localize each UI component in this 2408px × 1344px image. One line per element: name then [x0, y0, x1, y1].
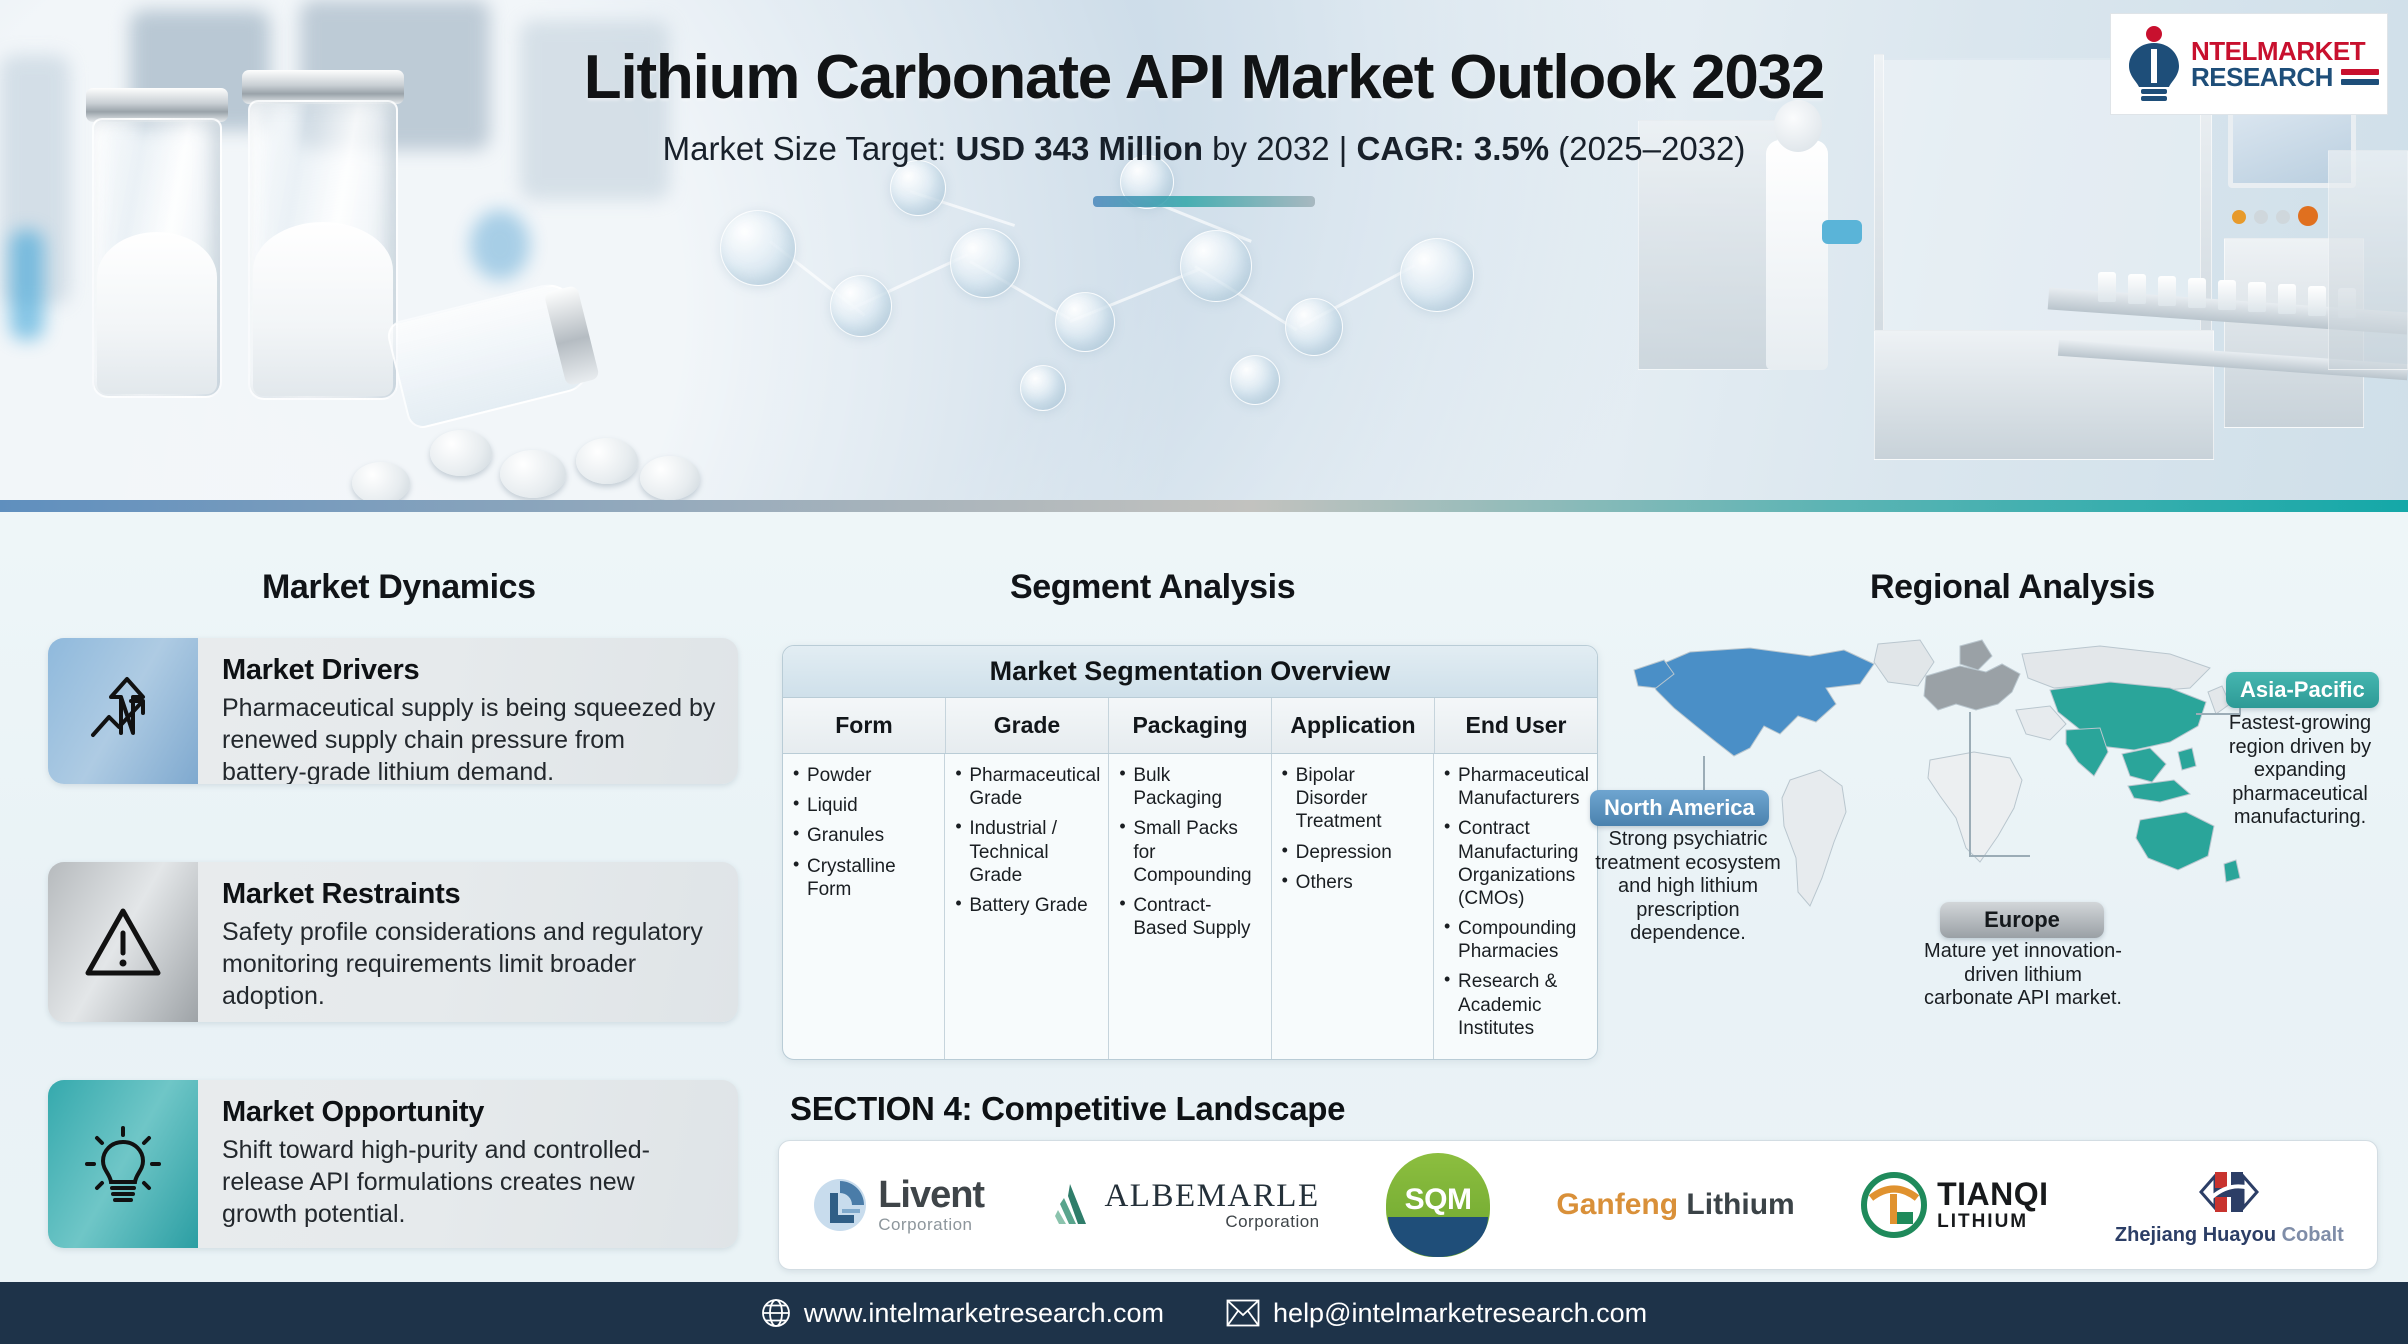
column-header-form: Form: [783, 698, 946, 753]
column-header-packaging: Packaging: [1109, 698, 1272, 753]
subtitle-years: (2025–2032): [1549, 130, 1745, 167]
table-body-row: Powder Liquid Granules Crystalline Form …: [783, 754, 1597, 1060]
card-heading: Market Restraints: [222, 878, 716, 911]
list-item: Pharmaceutical Manufacturers: [1444, 764, 1589, 810]
map-region-india: [2066, 728, 2108, 776]
competitor-name: Zhejiang Huayou Cobalt: [2115, 1224, 2344, 1247]
market-opportunity-card[interactable]: Market Opportunity Shift toward high-pur…: [48, 1080, 738, 1248]
map-region-indonesia: [2128, 780, 2190, 802]
hero-divider-bar: [0, 500, 2408, 512]
competitive-landscape-heading: SECTION 4: Competitive Landscape: [790, 1090, 1345, 1128]
card-heading: Market Drivers: [222, 654, 716, 687]
column-header-end-user: End User: [1435, 698, 1597, 753]
map-region-southeast-asia: [2122, 748, 2166, 782]
list-item: Granules: [793, 824, 936, 847]
logo-bars-icon: [2341, 69, 2379, 85]
map-region-africa: [1928, 752, 2022, 862]
card-heading: Market Opportunity: [222, 1096, 716, 1129]
competitor-albemarle[interactable]: ALBEMARLE Corporation: [1050, 1179, 1319, 1231]
hero-banner: Lithium Carbonate API Market Outlook 203…: [0, 0, 2408, 512]
card-body-text: Safety profile considerations and regula…: [222, 916, 716, 1012]
section-heading-market-dynamics: Market Dynamics: [262, 568, 536, 607]
footer-website[interactable]: www.intelmarketresearch.com: [761, 1298, 1164, 1329]
region-badge-asia-pacific[interactable]: Asia-Pacific: [2226, 672, 2379, 708]
subtitle-mid: by 2032 |: [1203, 130, 1357, 167]
section-number-label: SECTION 4:: [790, 1090, 981, 1127]
list-item: Bipolar Disorder Treatment: [1282, 764, 1425, 834]
regional-map: North America Strong psychiatric treatme…: [1630, 630, 2390, 1070]
competitor-sqm[interactable]: SQM: [1386, 1153, 1490, 1257]
list-item: Research & Academic Institutes: [1444, 970, 1589, 1040]
competitor-suffix: Corporation: [1104, 1213, 1319, 1231]
list-item: Compounding Pharmacies: [1444, 917, 1589, 963]
section-heading-regional-analysis: Regional Analysis: [1870, 568, 2155, 607]
page-title: Lithium Carbonate API Market Outlook 203…: [584, 42, 1824, 113]
map-region-philippines: [2178, 748, 2196, 770]
market-size-value: USD 343 Million: [955, 130, 1203, 167]
map-region-australia: [2136, 812, 2214, 870]
list-item: Pharmaceutical Grade: [955, 764, 1100, 810]
logo-wordmark: NTELMARKET RESEARCH: [2191, 38, 2379, 90]
livent-logo-icon: [812, 1177, 868, 1233]
list-item: Contract-Based Supply: [1119, 894, 1262, 940]
tianqi-logo-icon: [1861, 1172, 1927, 1238]
lightbulb-icon: [48, 1080, 198, 1248]
subtitle-prefix: Market Size Target:: [663, 130, 956, 167]
warning-triangle-icon: [48, 862, 198, 1022]
list-item: Industrial / Technical Grade: [955, 817, 1100, 887]
region-text-europe: Mature yet innovation-driven lithium car…: [1918, 940, 2128, 1011]
table-cell-packaging: Bulk Packaging Small Packs for Compoundi…: [1109, 754, 1271, 1060]
competitor-name: Livent: [878, 1176, 984, 1216]
table-cell-end-user: Pharmaceutical Manufacturers Contract Ma…: [1434, 754, 1597, 1060]
list-item: Others: [1282, 871, 1425, 894]
list-item: Powder: [793, 764, 936, 787]
region-badge-europe[interactable]: Europe: [1940, 902, 2104, 938]
map-region-new-zealand: [2224, 860, 2240, 882]
hero-subtitle: Market Size Target: USD 343 Million by 2…: [663, 130, 1746, 168]
table-cell-application: Bipolar Disorder Treatment Depression Ot…: [1272, 754, 1434, 1060]
company-logo[interactable]: NTELMARKET RESEARCH: [2110, 13, 2388, 115]
competitor-logo-strip: Livent Corporation ALBEMARLE Corporation…: [778, 1140, 2378, 1270]
globe-icon: [761, 1298, 791, 1328]
map-region-scandinavia: [1960, 640, 1992, 670]
title-accent-bar: [1093, 196, 1315, 207]
map-region-europe: [1924, 664, 2020, 710]
competitor-name: ALBEMARLE: [1104, 1179, 1319, 1214]
cagr-value: CAGR: 3.5%: [1357, 130, 1550, 167]
map-region-greenland: [1874, 640, 1934, 686]
competitor-tianqi[interactable]: TIANQI LITHIUM: [1861, 1172, 2048, 1238]
albemarle-logo-icon: [1050, 1182, 1094, 1228]
competitor-name: Ganfeng Lithium: [1556, 1188, 1794, 1222]
list-item: Liquid: [793, 794, 936, 817]
sqm-logo-icon: SQM: [1386, 1153, 1490, 1257]
market-drivers-card[interactable]: Market Drivers Pharmaceutical supply is …: [48, 638, 738, 784]
list-item: Small Packs for Compounding: [1119, 817, 1262, 887]
card-body-text: Pharmaceutical supply is being squeezed …: [222, 692, 716, 784]
region-text-asia-pacific: Fastest-growing region driven by expandi…: [2208, 712, 2392, 830]
competitor-suffix: Corporation: [878, 1216, 984, 1234]
column-header-grade: Grade: [946, 698, 1109, 753]
lightbulb-logo-icon: [2123, 25, 2185, 103]
huayou-logo-icon: [2181, 1164, 2277, 1220]
logo-line-research: RESEARCH: [2191, 64, 2333, 90]
footer-email[interactable]: help@intelmarketresearch.com: [1226, 1298, 1647, 1329]
logo-line-intelmarket: NTELMARKET: [2191, 38, 2379, 64]
competitor-suffix: LITHIUM: [1937, 1212, 2048, 1232]
hero-text-block: Lithium Carbonate API Market Outlook 203…: [0, 0, 2408, 512]
list-item: Depression: [1282, 841, 1425, 864]
region-badge-north-america[interactable]: North America: [1590, 790, 1769, 826]
market-restraints-card[interactable]: Market Restraints Safety profile conside…: [48, 862, 738, 1022]
envelope-icon: [1226, 1299, 1260, 1327]
list-item: Bulk Packaging: [1119, 764, 1262, 810]
table-title: Market Segmentation Overview: [783, 646, 1597, 698]
competitor-name: TIANQI: [1937, 1178, 2048, 1212]
competitor-ganfeng[interactable]: Ganfeng Lithium: [1556, 1188, 1794, 1222]
website-url: www.intelmarketresearch.com: [804, 1298, 1164, 1329]
card-body-text: Shift toward high-purity and controlled-…: [222, 1134, 716, 1230]
column-header-application: Application: [1272, 698, 1435, 753]
section-heading-segment-analysis: Segment Analysis: [1010, 568, 1295, 607]
footer-bar: www.intelmarketresearch.com help@intelma…: [0, 1282, 2408, 1344]
competitor-huayou[interactable]: Zhejiang Huayou Cobalt: [2115, 1164, 2344, 1247]
table-cell-grade: Pharmaceutical Grade Industrial / Techni…: [945, 754, 1109, 1060]
list-item: Crystalline Form: [793, 855, 936, 901]
email-address: help@intelmarketresearch.com: [1273, 1298, 1647, 1329]
table-cell-form: Powder Liquid Granules Crystalline Form: [783, 754, 945, 1060]
table-header-row: Form Grade Packaging Application End Use…: [783, 698, 1597, 754]
list-item: Contract Manufacturing Organizations (CM…: [1444, 817, 1589, 910]
competitor-name: SQM: [1405, 1183, 1472, 1216]
upward-trend-arrow-icon: [48, 638, 198, 784]
map-region-north-america: [1648, 648, 1874, 756]
list-item: Battery Grade: [955, 894, 1100, 917]
section-title-label: Competitive Landscape: [981, 1090, 1345, 1127]
competitor-livent[interactable]: Livent Corporation: [812, 1176, 984, 1234]
region-text-north-america: Strong psychiatric treatment ecosystem a…: [1582, 828, 1794, 946]
market-segmentation-table: Market Segmentation Overview Form Grade …: [782, 645, 1598, 1060]
